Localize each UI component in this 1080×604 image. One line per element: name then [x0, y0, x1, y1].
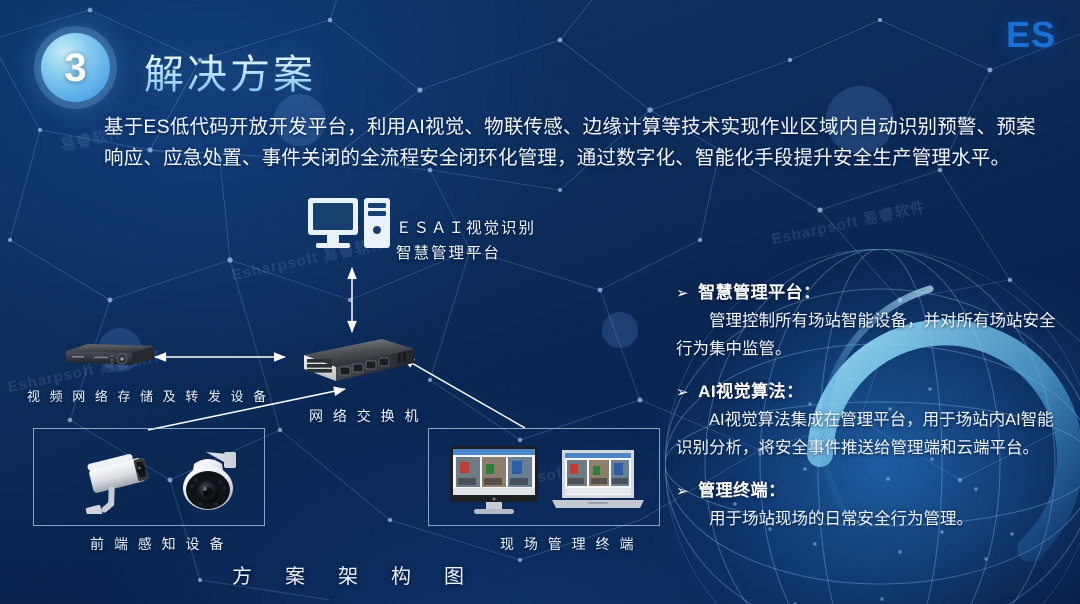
platform-label: ＥＳＡＩ视觉识别 智慧管理平台	[396, 216, 536, 266]
step-number-badge: 3	[41, 33, 110, 102]
bullet-body-2: AI视觉算法集成在管理平台，用于场站内AI智能识别分析，将安全事件推送给管理端和…	[676, 406, 1058, 462]
intro-paragraph: 基于ES低代码开放开发平台，利用AI视觉、物联传感、边缘计算等技术实现作业区域内…	[104, 112, 1054, 174]
imac-monitor-icon	[448, 444, 540, 516]
bullet-heading-1-text: 智慧管理平台：	[698, 278, 821, 303]
nvr-recorder-icon	[62, 341, 156, 373]
bullet-body-3: 用于场站现场的日常安全行为管理。	[676, 505, 1058, 533]
front-end-device-label: 前 端 感 知 设 备	[90, 534, 226, 554]
ptz-dome-camera-icon	[170, 444, 244, 518]
bullet-camera-icon	[66, 452, 164, 514]
switch-label: 网 络 交 换 机	[309, 406, 422, 426]
bullet-heading-3-text: 管理终端：	[698, 476, 786, 501]
platform-label-line2: 智慧管理平台	[396, 241, 536, 266]
bullet-heading-2: ➢ AI视觉算法：	[676, 377, 1058, 402]
chevron-bullet-icon: ➢	[676, 484, 689, 499]
step-number-label: 3	[64, 48, 86, 88]
laptop-icon	[548, 448, 646, 514]
bullet-heading-2-text: AI视觉算法：	[698, 377, 804, 402]
bullet-heading-3: ➢ 管理终端：	[676, 476, 1058, 501]
slide-root: Esharpsoft 易睿软件 Esharpsoft 易睿软件 Esharpso…	[0, 0, 1080, 604]
bullet-column: ➢ 智慧管理平台： 管理控制所有场站智能设备，并对所有场站安全行为集中监管。 ➢…	[676, 278, 1058, 533]
platform-label-line1: ＥＳＡＩ视觉识别	[396, 216, 536, 241]
es-logo: ES	[1006, 14, 1056, 56]
chevron-bullet-icon: ➢	[676, 385, 689, 400]
bullet-body-1: 管理控制所有场站智能设备，并对所有场站安全行为集中监管。	[676, 307, 1058, 363]
diagram-caption: 方 案 架 构 图	[232, 560, 478, 589]
desktop-computer-icon	[306, 196, 398, 258]
page-title: 解决方案	[144, 42, 316, 100]
nvr-label: 视 频 网 络 存 储 及 转 发 设 备	[27, 386, 269, 405]
watermark: Esharpsoft 易睿软件	[770, 196, 928, 249]
site-terminal-label: 现 场 管 理 终 端	[500, 534, 636, 554]
bullet-heading-1: ➢ 智慧管理平台：	[676, 278, 1058, 303]
chevron-bullet-icon: ➢	[676, 286, 689, 301]
network-switch-icon	[286, 333, 418, 391]
